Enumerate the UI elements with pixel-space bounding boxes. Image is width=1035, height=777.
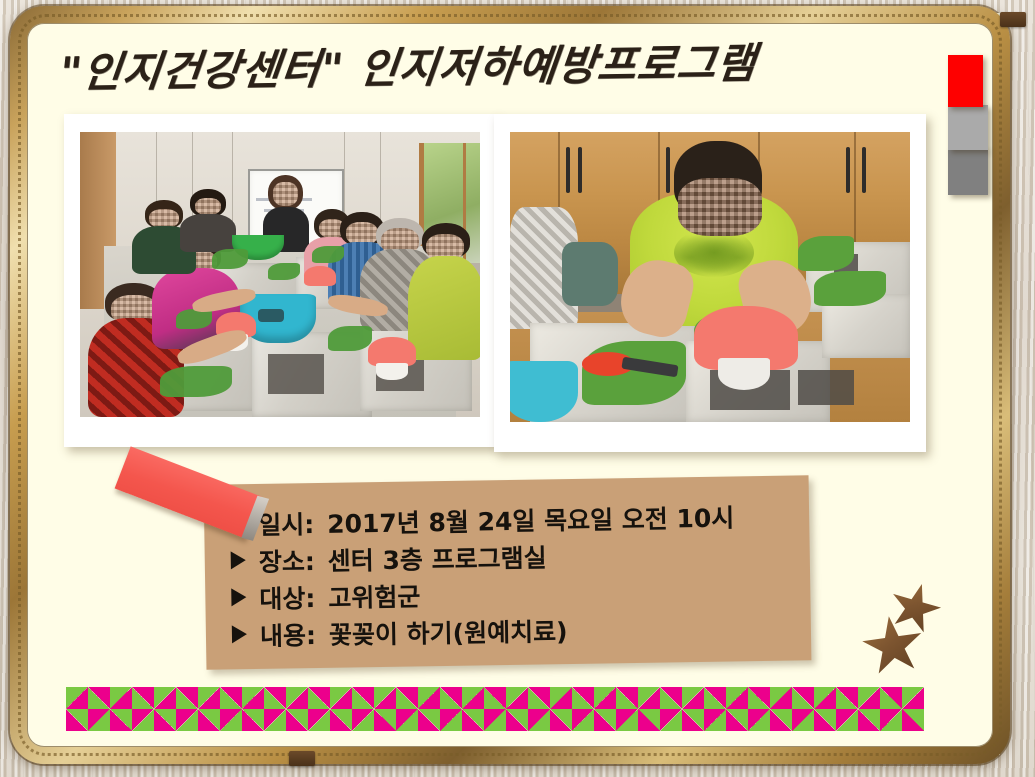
triangle-cell: [176, 709, 198, 731]
triangle-cell: [330, 709, 352, 731]
triangle-cell: [308, 687, 330, 709]
triangle-cell: [198, 687, 220, 709]
white-pot: [718, 358, 770, 390]
triangle-cell: [704, 687, 726, 709]
triangle-cell: [484, 687, 506, 709]
info-label-datetime: 일시:: [258, 511, 314, 540]
triangle-cell: [858, 687, 880, 709]
triangle-cell: [264, 709, 286, 731]
blue-basin-icon-2: [510, 361, 578, 422]
triangle-cell: [264, 687, 286, 709]
triangle-cell: [440, 709, 462, 731]
info-item-datetime: 일시: 2017년 8월 24일 목요일 오전 10시: [230, 503, 809, 540]
triangle-cell: [572, 709, 594, 731]
frame-clip-bottom-left: [289, 751, 315, 766]
page-title: "인지건강센터" 인지저하예방프로그램: [57, 29, 760, 100]
triangle-cell: [836, 709, 858, 731]
triangle-cell: [66, 687, 88, 709]
triangle-cell: [242, 709, 264, 731]
triangle-cell: [374, 709, 396, 731]
triangle-cell: [484, 709, 506, 731]
triangle-cell: [594, 687, 616, 709]
triangle-row-bottom: [66, 709, 932, 731]
photo-card-closeup-arranging: [494, 114, 926, 452]
triangle-cell: [638, 709, 660, 731]
triangle-bullet-icon: [232, 625, 247, 643]
triangle-cell: [66, 709, 88, 731]
triangle-cell: [418, 687, 440, 709]
triangle-cell: [880, 709, 902, 731]
info-item-content: 내용: 꽃꽂이 하기(원예치료): [232, 614, 811, 651]
frame-clip-top-right: [1000, 12, 1026, 27]
info-label-location: 장소:: [259, 548, 315, 577]
edge-block-light-gray: [948, 105, 988, 150]
photo-group-activity: [80, 132, 480, 417]
info-list: 일시: 2017년 8월 24일 목요일 오전 10시 장소: 센터 3층 프로…: [204, 475, 812, 651]
triangle-cell: [616, 709, 638, 731]
triangle-cell: [462, 687, 484, 709]
triangle-cell: [616, 687, 638, 709]
slide-canvas: "인지건강센터" 인지저하예방프로그램: [0, 0, 1035, 777]
triangle-cell: [506, 687, 528, 709]
triangle-cell: [682, 687, 704, 709]
triangle-cell: [176, 687, 198, 709]
triangle-cell: [814, 687, 836, 709]
triangle-cell: [792, 709, 814, 731]
triangle-cell: [220, 709, 242, 731]
triangle-cell: [704, 709, 726, 731]
triangle-cell: [836, 687, 858, 709]
triangle-border-band: [66, 687, 932, 731]
pixelated-face: [678, 178, 762, 236]
triangle-cell: [902, 709, 924, 731]
triangle-bullet-icon: [231, 551, 246, 569]
info-value-target: 고위험군: [328, 583, 420, 612]
triangle-cell: [814, 709, 836, 731]
triangle-cell: [198, 709, 220, 731]
triangle-cell: [682, 709, 704, 731]
info-item-target: 대상: 고위험군: [231, 577, 810, 614]
triangle-cell: [154, 687, 176, 709]
triangle-cell: [572, 687, 594, 709]
triangle-cell: [396, 709, 418, 731]
triangle-cell: [506, 709, 528, 731]
photo-card-group-activity: [64, 114, 496, 447]
triangle-cell: [440, 687, 462, 709]
triangle-cell: [770, 709, 792, 731]
triangle-cell: [418, 709, 440, 731]
triangle-cell: [550, 709, 572, 731]
photo-closeup-arranging: [510, 132, 910, 422]
triangle-cell: [308, 709, 330, 731]
triangle-cell: [726, 687, 748, 709]
triangle-cell: [110, 709, 132, 731]
triangle-cell: [88, 687, 110, 709]
triangle-cell: [528, 709, 550, 731]
triangle-cell: [396, 687, 418, 709]
triangle-cell: [220, 687, 242, 709]
triangle-cell: [352, 687, 374, 709]
triangle-cell: [726, 709, 748, 731]
info-item-location: 장소: 센터 3층 프로그램실: [231, 540, 810, 577]
triangle-bullet-icon: [231, 588, 246, 606]
triangle-row-top: [66, 687, 932, 709]
edge-block-dark-gray: [948, 148, 988, 195]
info-value-location: 센터 3층 프로그램실: [328, 544, 547, 575]
triangle-cell: [330, 687, 352, 709]
triangle-cell: [528, 687, 550, 709]
triangle-cell: [770, 687, 792, 709]
triangle-cell: [902, 687, 924, 709]
edge-block-red: [948, 55, 983, 107]
info-value-content: 꽃꽂이 하기(원예치료): [329, 618, 568, 650]
triangle-cell: [88, 709, 110, 731]
triangle-cell: [748, 687, 770, 709]
triangle-cell: [242, 687, 264, 709]
triangle-cell: [374, 687, 396, 709]
triangle-cell: [462, 709, 484, 731]
triangle-cell: [660, 687, 682, 709]
triangle-cell: [132, 709, 154, 731]
triangle-cell: [638, 687, 660, 709]
triangle-cell: [132, 687, 154, 709]
info-label-content: 내용:: [260, 622, 316, 651]
info-label-target: 대상:: [259, 585, 315, 614]
triangle-cell: [286, 687, 308, 709]
info-box: 일시: 2017년 8월 24일 목요일 오전 10시 장소: 센터 3층 프로…: [204, 475, 812, 669]
triangle-cell: [550, 687, 572, 709]
triangle-cell: [880, 687, 902, 709]
triangle-cell: [352, 709, 374, 731]
triangle-cell: [286, 709, 308, 731]
triangle-cell: [110, 687, 132, 709]
triangle-cell: [154, 709, 176, 731]
triangle-cell: [660, 709, 682, 731]
triangle-cell: [858, 709, 880, 731]
info-value-datetime: 2017년 8월 24일 목요일 오전 10시: [327, 504, 734, 538]
triangle-cell: [748, 709, 770, 731]
triangle-cell: [792, 687, 814, 709]
triangle-cell: [594, 709, 616, 731]
